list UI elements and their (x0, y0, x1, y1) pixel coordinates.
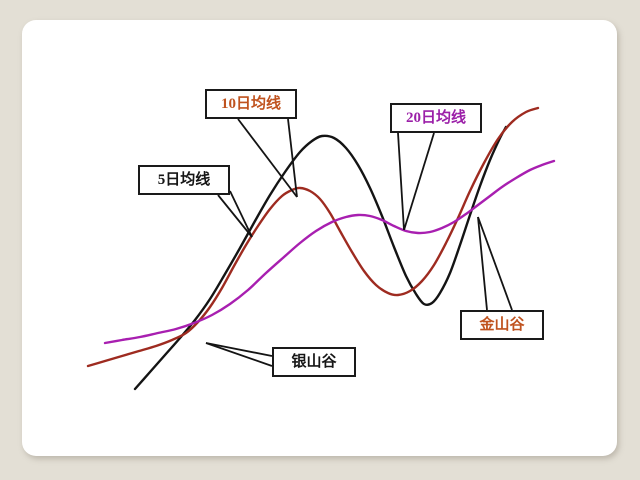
leader-line-ma20-a (398, 133, 404, 230)
callout-text-ma5: 5日均线 (158, 173, 211, 188)
diagram-stage: 10日均线 20日均线 5日均线 银山谷 金山谷 (0, 0, 640, 480)
callout-text-jinshangu: 金山谷 (479, 318, 524, 333)
callout-text-yinshangu: 银山谷 (291, 355, 336, 370)
moving-average-chart (0, 0, 640, 480)
callout-label-ma20[interactable]: 20日均线 (390, 103, 482, 133)
leader-line-ma10-a (238, 119, 297, 197)
callout-label-ma10[interactable]: 10日均线 (205, 89, 297, 119)
callout-label-yinshangu[interactable]: 银山谷 (272, 347, 356, 377)
callout-label-jinshangu[interactable]: 金山谷 (460, 310, 544, 340)
callout-text-ma20: 20日均线 (406, 111, 466, 126)
callout-text-ma10: 10日均线 (221, 97, 281, 112)
leader-line-ma20-b (404, 133, 434, 230)
callout-label-ma5[interactable]: 5日均线 (138, 165, 230, 195)
